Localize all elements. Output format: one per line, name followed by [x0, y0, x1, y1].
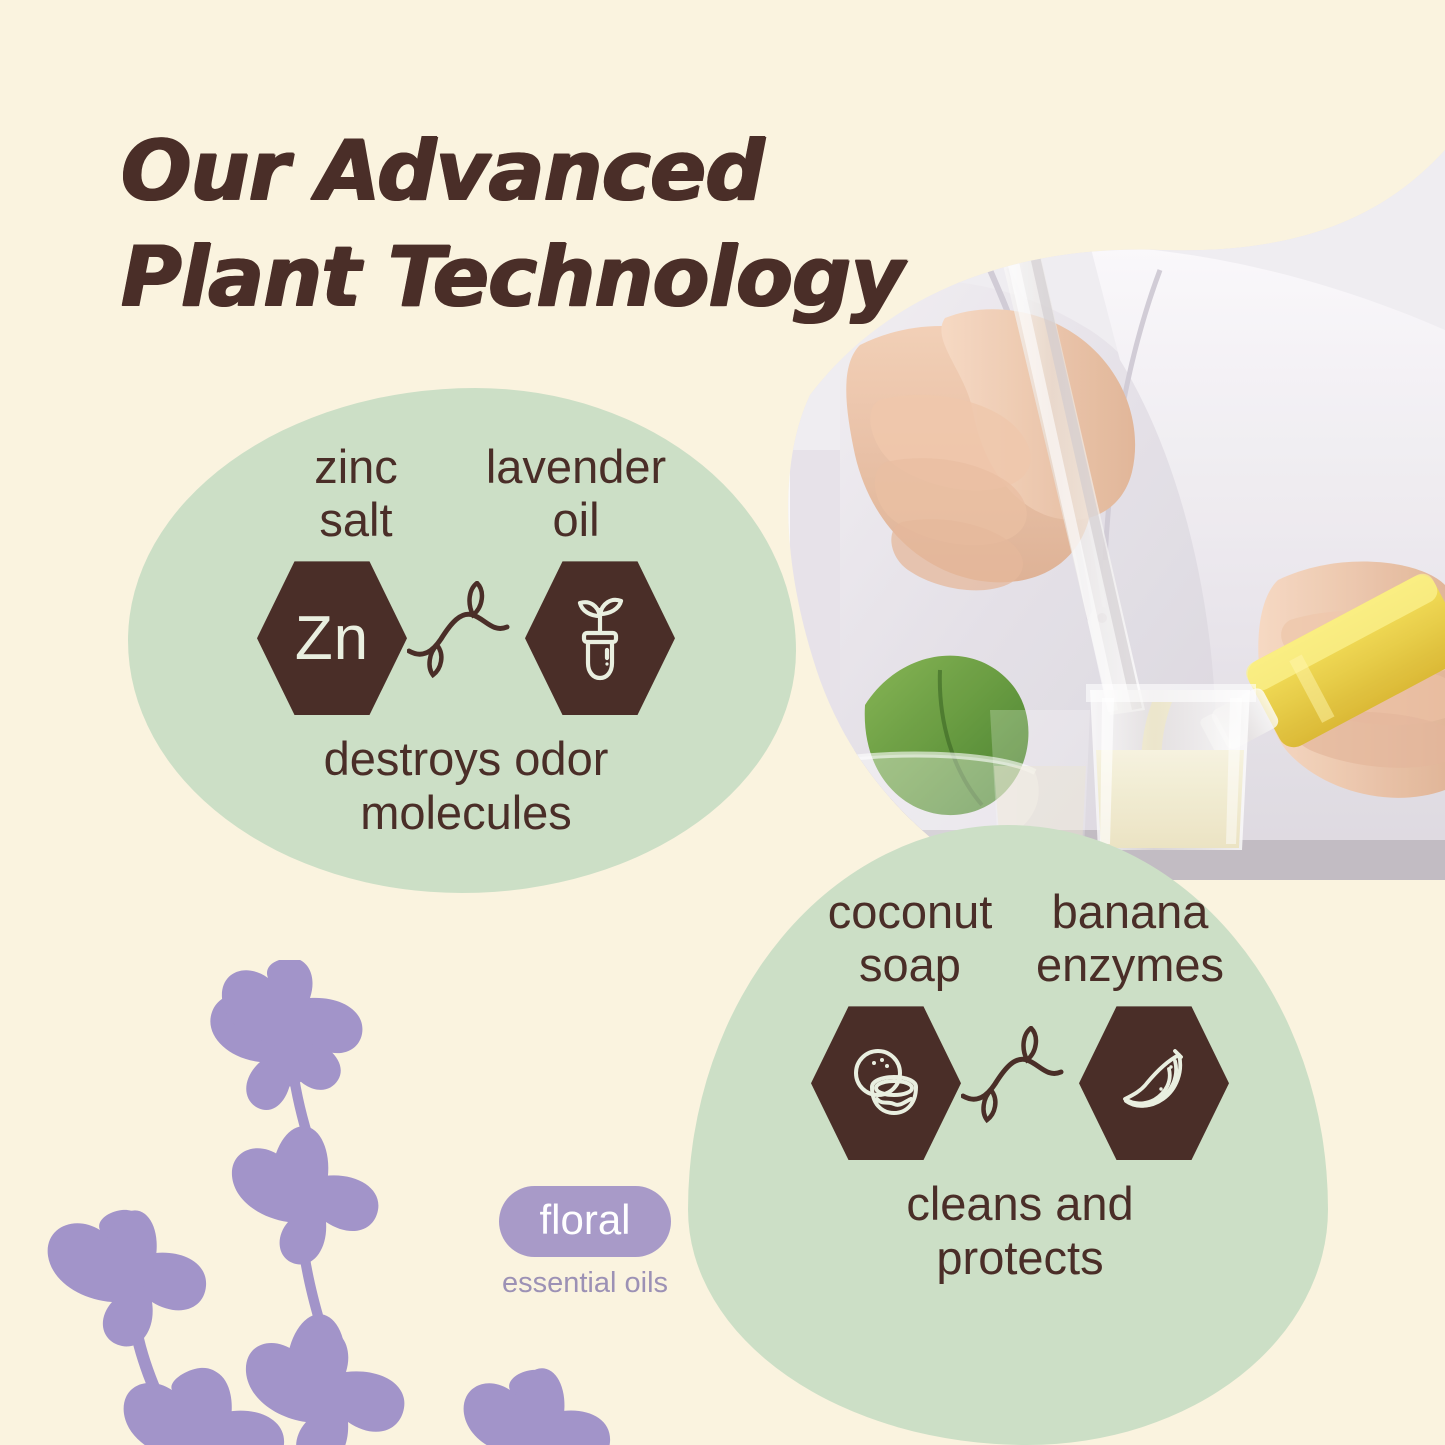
floral-badge-sublabel: essential oils [460, 1269, 710, 1298]
page-title-line-2: Plant Technology [120, 224, 940, 330]
ingredient-labels: zinc salt lavender oil [186, 440, 746, 546]
test-tube-sprout-icon [525, 558, 675, 718]
page-title-line-1: Our Advanced [120, 118, 940, 224]
ingredient-chain-clean [760, 1003, 1280, 1163]
leaf-vine-connector-icon [407, 581, 525, 696]
floral-badge-group: floral essential oils [460, 1186, 710, 1298]
ingredient-caption-clean: cleans and protects [760, 1177, 1280, 1284]
ingredient-chain-odor: Zn [186, 558, 746, 718]
ingredient-label-lavender-oil: lavender oil [466, 440, 686, 546]
zinc-symbol-label: Zn [295, 603, 369, 674]
floral-badge[interactable]: floral [499, 1186, 670, 1257]
infographic-canvas: Our Advanced Plant Technology zinc salt … [0, 0, 1445, 1445]
coconut-hexagon-icon [811, 1003, 961, 1163]
ingredient-card-odor: zinc salt lavender oil Zn [186, 440, 746, 839]
page-title: Our Advanced Plant Technology [120, 118, 940, 330]
zinc-hexagon-icon: Zn [257, 558, 407, 718]
banana-bunch-icon [1079, 1003, 1229, 1163]
ingredient-label-coconut-soap: coconut soap [800, 885, 1020, 991]
leaf-vine-connector-icon [961, 1026, 1079, 1141]
ingredient-label-zinc-salt: zinc salt [246, 440, 466, 546]
ingredient-label-banana-enzymes: banana enzymes [1020, 885, 1240, 991]
ingredient-labels: coconut soap banana enzymes [760, 885, 1280, 991]
ingredient-caption-odor: destroys odor molecules [186, 732, 746, 839]
ingredient-card-clean: coconut soap banana enzymes [760, 885, 1280, 1284]
